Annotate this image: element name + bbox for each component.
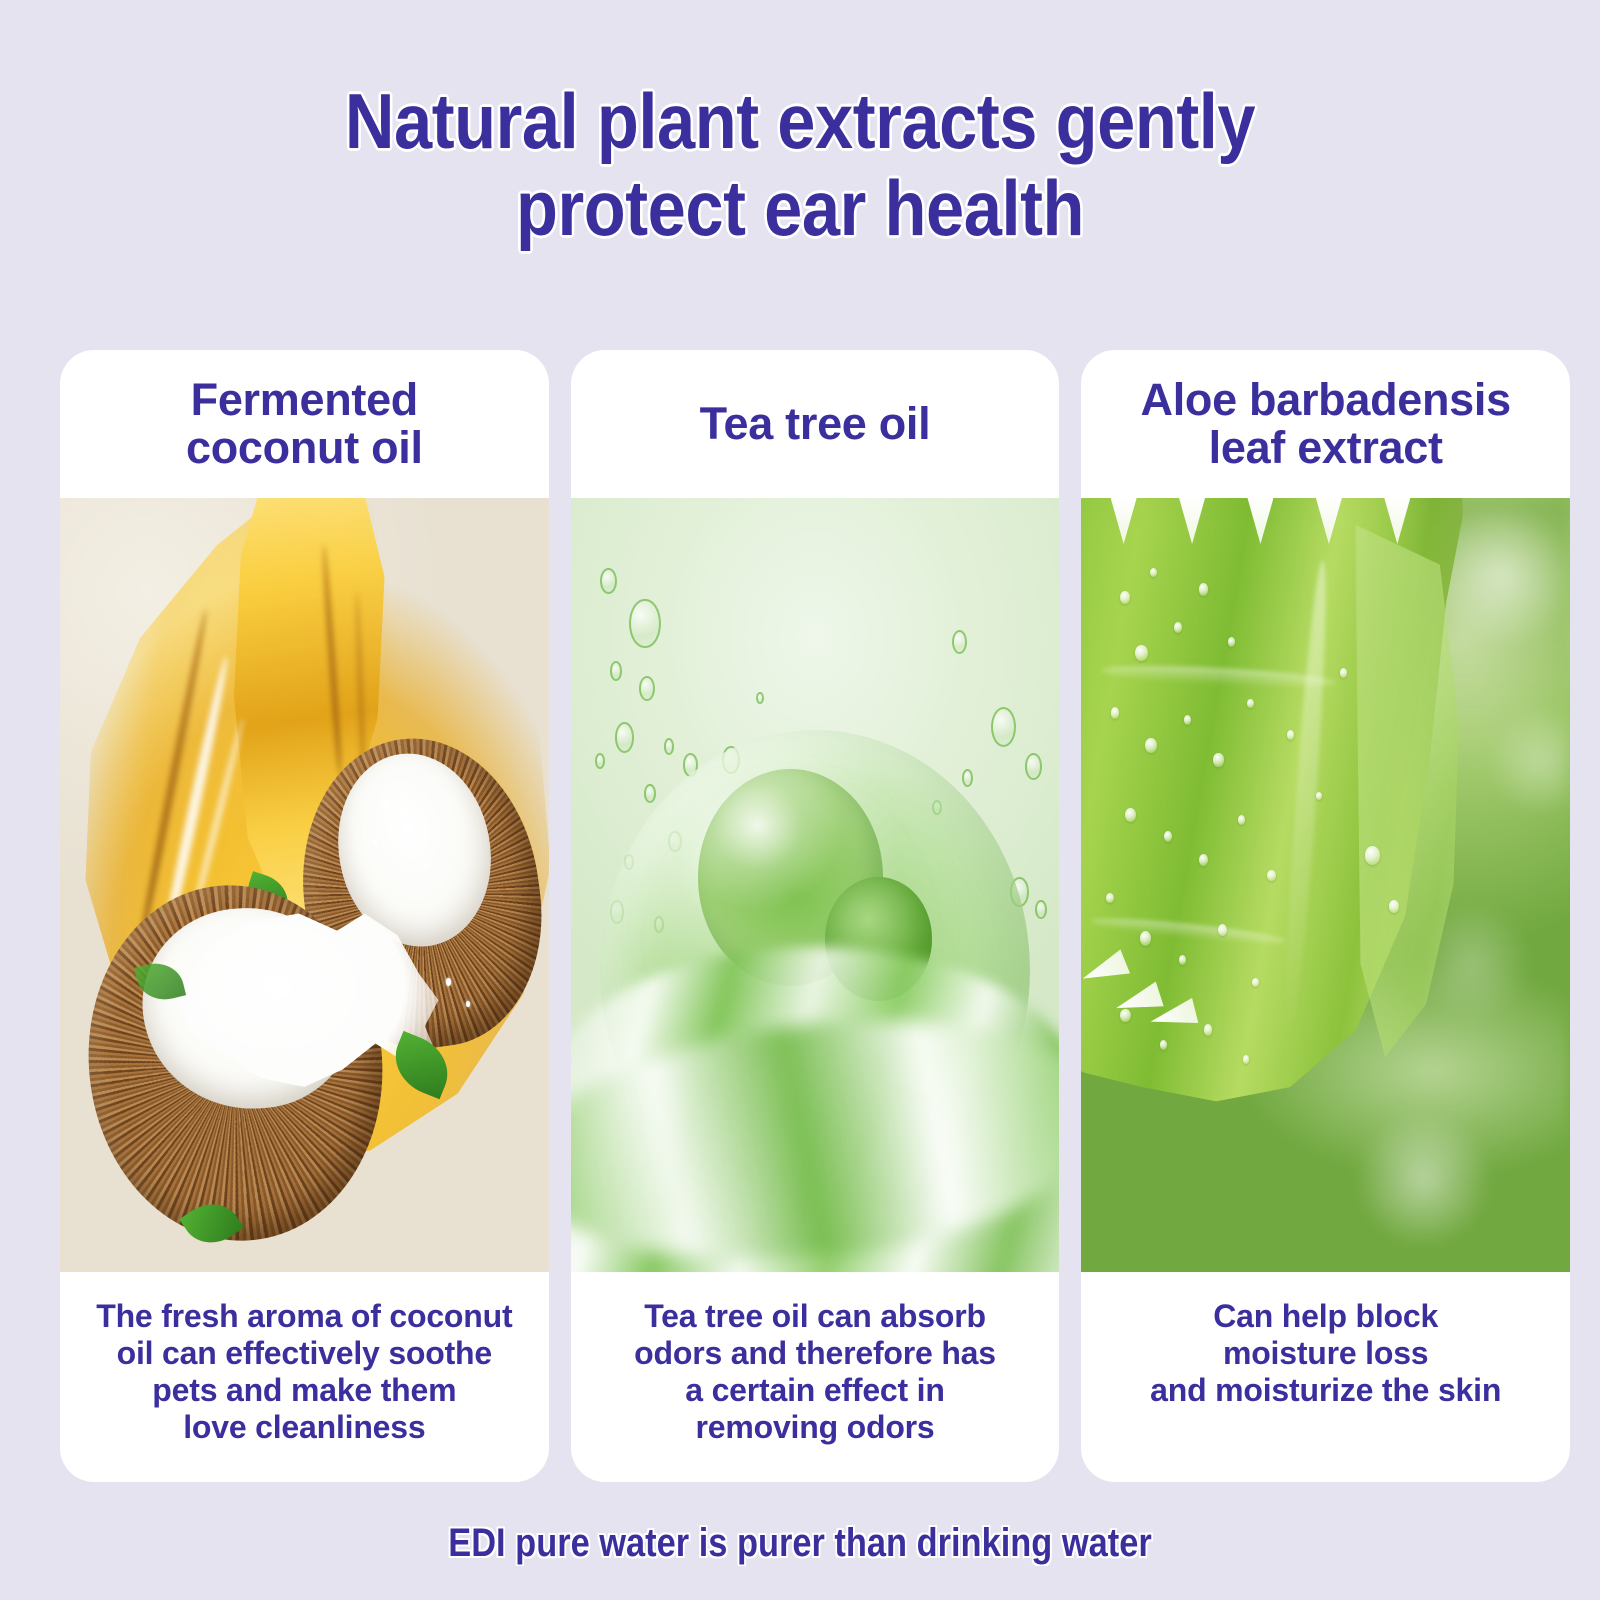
card-title-aloe: Aloe barbadensis leaf extract: [1141, 376, 1511, 471]
footer-note: EDI pure water is purer than drinking wa…: [112, 1521, 1488, 1566]
card-header-coconut: Fermented coconut oil: [60, 350, 549, 498]
card-title-tea-tree: Tea tree oil: [700, 400, 931, 448]
ingredient-card-tea-tree[interactable]: Tea tree oil: [571, 350, 1060, 1482]
ingredient-card-aloe[interactable]: Aloe barbadensis leaf extract: [1081, 350, 1570, 1482]
ingredient-card-row: Fermented coconut oil: [60, 350, 1570, 1482]
aloe-leaf-photo: [1081, 498, 1570, 1272]
caption-text-tea-tree: Tea tree oil can absorb odors and theref…: [634, 1298, 996, 1446]
card-caption-tea-tree: Tea tree oil can absorb odors and theref…: [571, 1272, 1060, 1482]
card-header-tea-tree: Tea tree oil: [571, 350, 1060, 498]
caption-text-coconut: The fresh aroma of coconut oil can effec…: [96, 1298, 512, 1446]
tea-tree-oil-photo: [571, 498, 1060, 1272]
page-title: Natural plant extracts gently protect ea…: [96, 78, 1504, 253]
card-caption-coconut: The fresh aroma of coconut oil can effec…: [60, 1272, 549, 1482]
ingredient-card-coconut[interactable]: Fermented coconut oil: [60, 350, 549, 1482]
caption-text-aloe: Can help block moisture loss and moistur…: [1150, 1298, 1501, 1409]
coconut-oil-photo: [60, 498, 549, 1272]
card-title-coconut: Fermented coconut oil: [186, 376, 423, 471]
card-header-aloe: Aloe barbadensis leaf extract: [1081, 350, 1570, 498]
card-caption-aloe: Can help block moisture loss and moistur…: [1081, 1272, 1570, 1482]
